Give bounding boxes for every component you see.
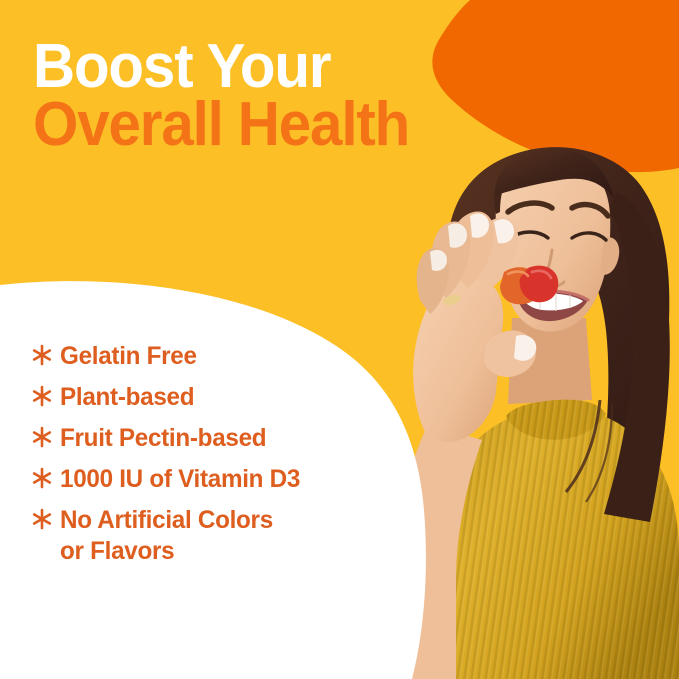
white-curved-panel xyxy=(0,0,679,679)
feature-bullet-list: Gelatin Free Plant-based xyxy=(30,341,430,577)
product-marketing-banner: Boost Your Overall Health Gelatin Free xyxy=(0,0,679,679)
asterisk-star-icon xyxy=(30,341,60,367)
list-item-label: Gelatin Free xyxy=(60,341,197,372)
list-item: Plant-based xyxy=(30,382,430,413)
list-item-label: 1000 IU of Vitamin D3 xyxy=(60,464,300,495)
asterisk-star-icon xyxy=(30,464,60,490)
list-item-label: No Artificial Colors or Flavors xyxy=(60,505,273,567)
list-item-label: Fruit Pectin-based xyxy=(60,423,266,454)
list-item: Gelatin Free xyxy=(30,341,430,372)
asterisk-star-icon xyxy=(30,505,60,531)
list-item: Fruit Pectin-based xyxy=(30,423,430,454)
list-item: 1000 IU of Vitamin D3 xyxy=(30,464,430,495)
asterisk-star-icon xyxy=(30,423,60,449)
asterisk-star-icon xyxy=(30,382,60,408)
list-item-label: Plant-based xyxy=(60,382,194,413)
list-item: No Artificial Colors or Flavors xyxy=(30,505,430,567)
